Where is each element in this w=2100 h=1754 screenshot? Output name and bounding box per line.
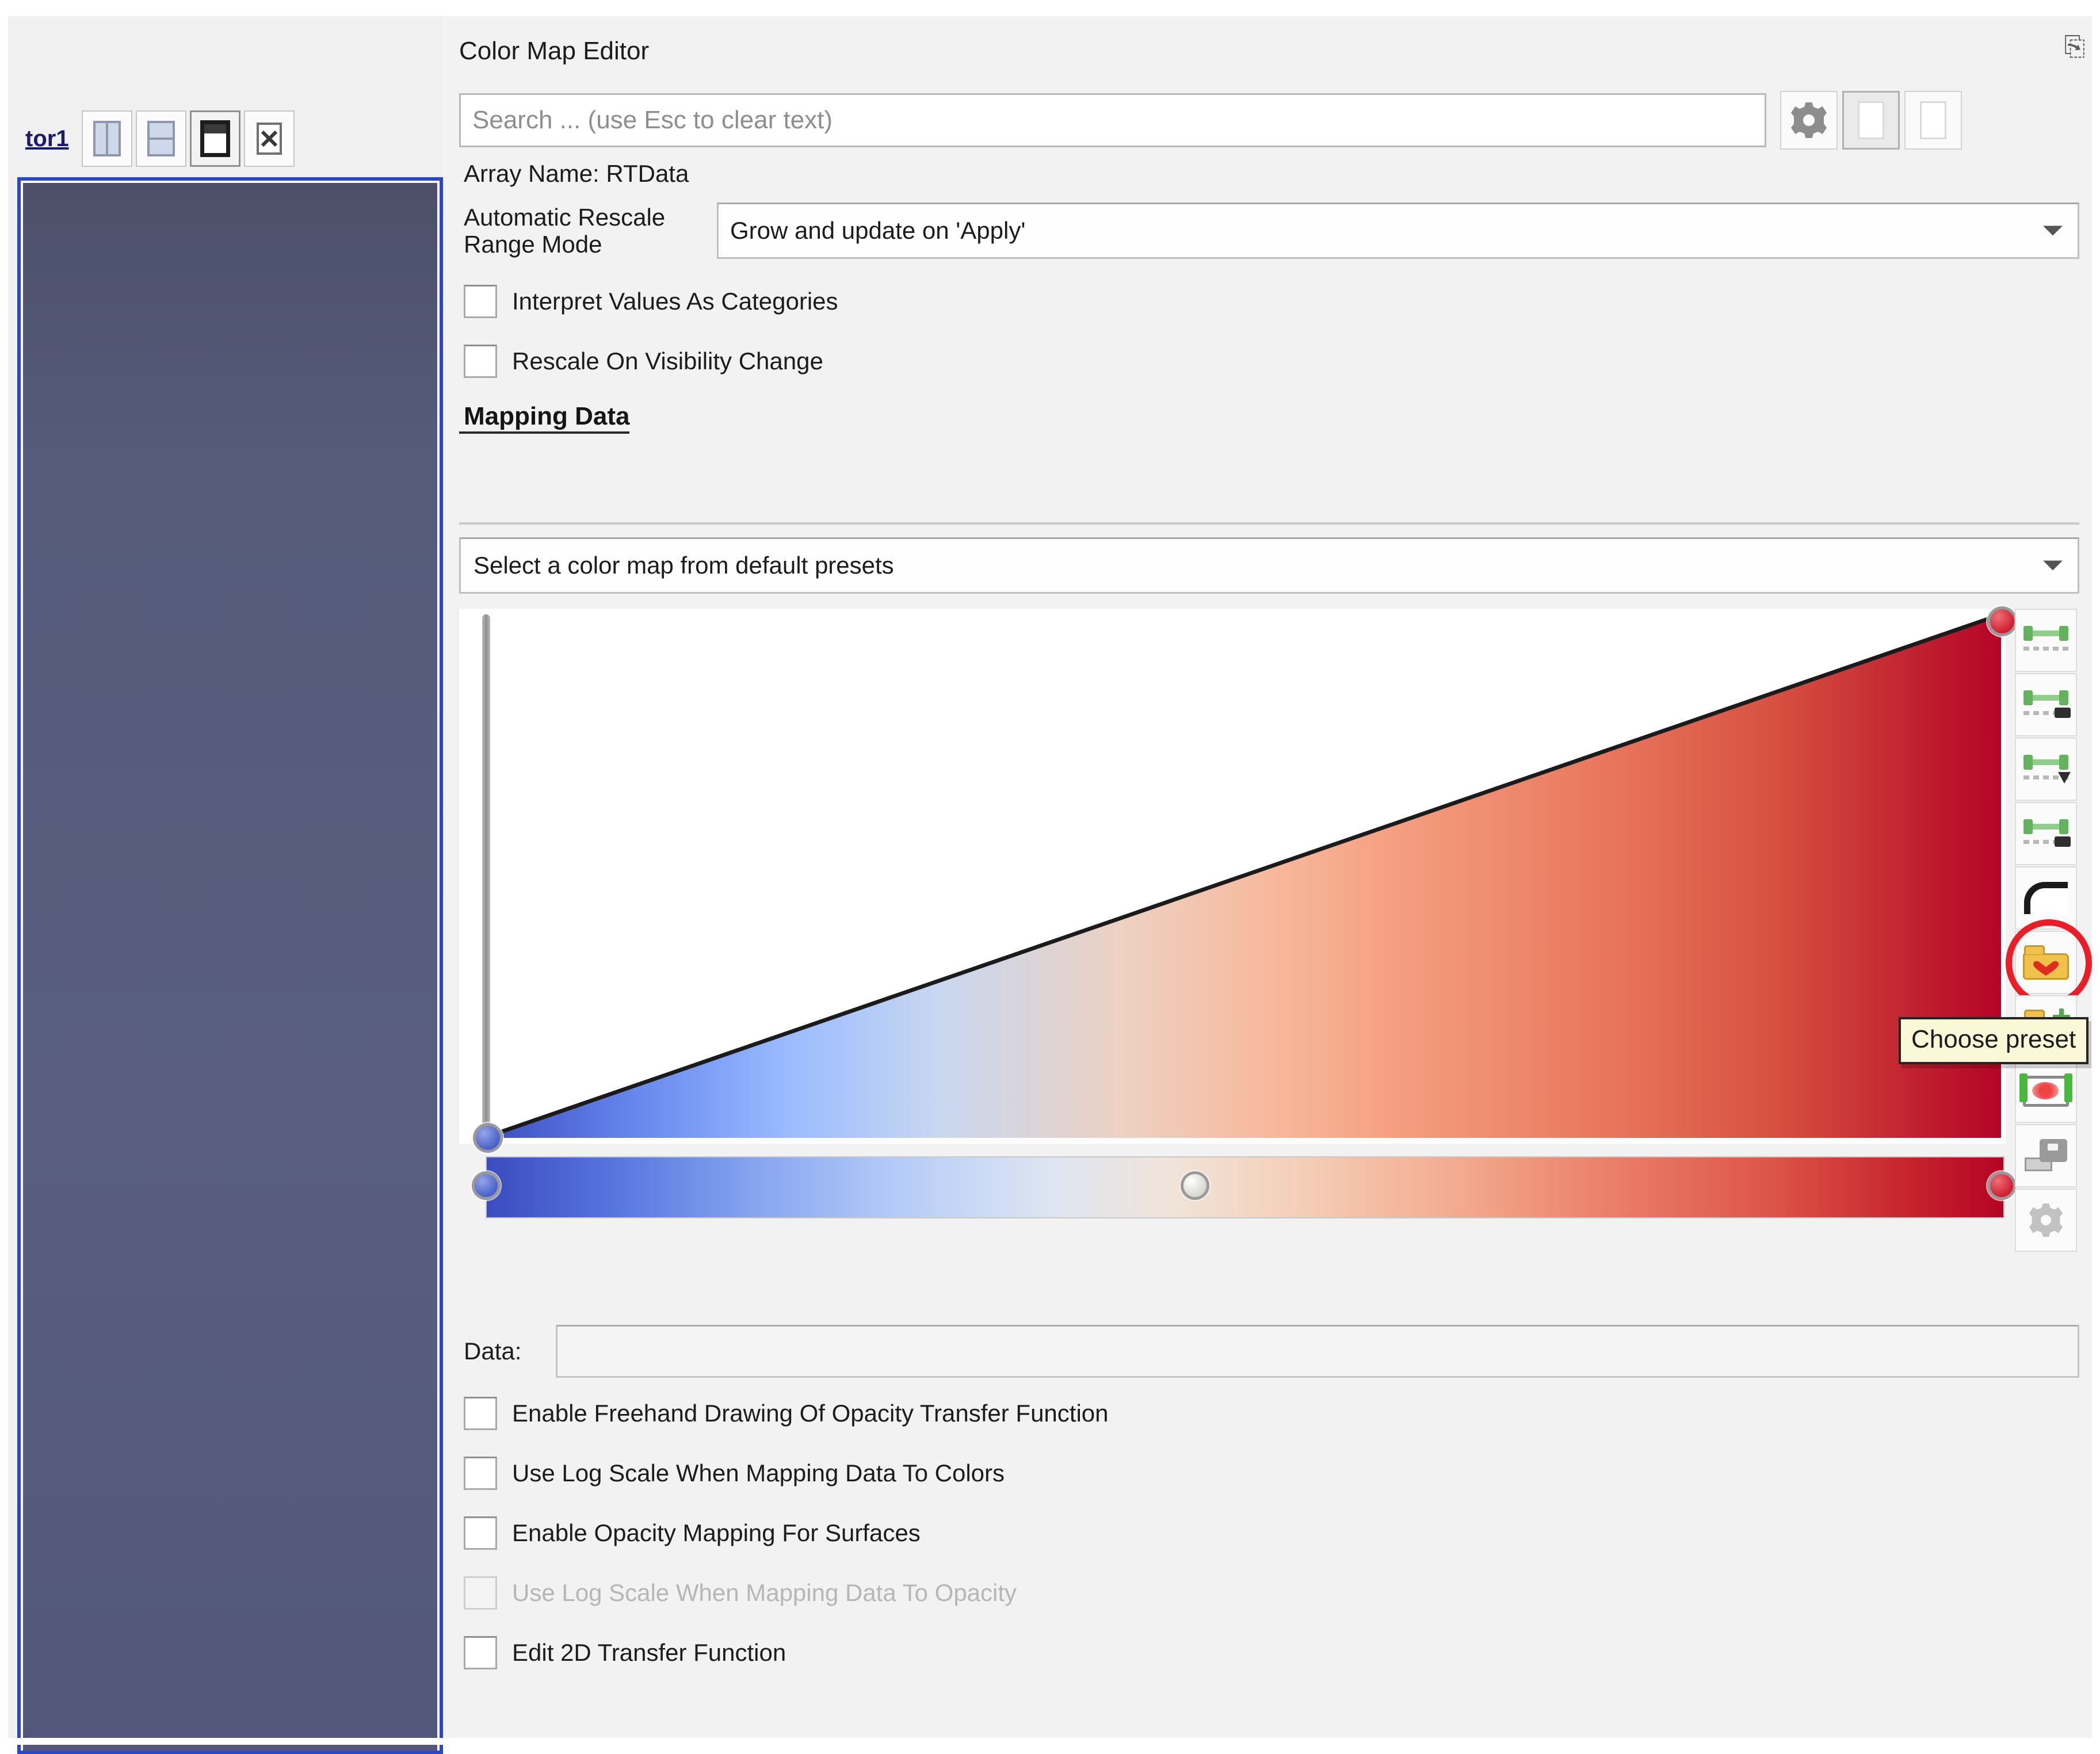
rescale-range-icon <box>2023 624 2068 657</box>
page-margin-bottom <box>0 1738 2100 1745</box>
chevron-down-icon <box>2043 561 2063 571</box>
page-margin-left <box>0 0 8 1745</box>
mapping-data-section-header: Mapping Data <box>459 402 629 434</box>
choose-preset-button[interactable] <box>2015 931 2077 994</box>
gear-icon <box>2029 1203 2063 1237</box>
rescale-to-data-range-over-time-button[interactable] <box>2015 737 2077 801</box>
rescale-mode-label: Automatic Rescale Range Mode <box>459 204 717 258</box>
use-log-scale-colors-checkbox[interactable] <box>464 1457 497 1490</box>
opacity-control-point-low[interactable] <box>473 1123 503 1153</box>
enable-freehand-drawing-label: Enable Freehand Drawing Of Opacity Trans… <box>512 1400 1109 1427</box>
rescale-mode-row: Automatic Rescale Range Mode Grow and up… <box>459 202 2079 259</box>
checkbox-row-rescale-on-visibility-change[interactable]: Rescale On Visibility Change <box>459 331 2079 391</box>
color-control-point-high[interactable] <box>1987 1171 2016 1200</box>
opacity-control-point-high[interactable] <box>1987 606 2017 636</box>
rescale-to-custom-data-range-button[interactable] <box>2015 673 2077 736</box>
edit-2d-transfer-checkbox[interactable] <box>464 1636 497 1669</box>
color-legend-icon <box>1858 101 1884 139</box>
checkbox-row-use-log-scale-colors[interactable]: Use Log Scale When Mapping Data To Color… <box>459 1443 2079 1503</box>
split-vertical-button[interactable] <box>136 110 186 167</box>
color-legend-preset-button[interactable] <box>1842 91 1900 150</box>
edit-2d-transfer-label: Edit 2D Transfer Function <box>512 1639 786 1667</box>
data-input[interactable] <box>556 1325 2079 1378</box>
chevron-down-icon <box>2043 226 2063 236</box>
rainbow-legend-preset-button[interactable] <box>1904 91 1962 150</box>
rescale-mode-value: Grow and update on 'Apply' <box>719 217 1025 244</box>
split-vertical-icon <box>147 121 175 156</box>
page-margin-right <box>2092 0 2100 1745</box>
colormap-color-bar[interactable] <box>486 1156 2004 1218</box>
enable-opacity-mapping-label: Enable Opacity Mapping For Surfaces <box>512 1519 921 1547</box>
maximize-icon <box>200 120 230 157</box>
checkbox-row-interpret-values-as-categories[interactable]: Interpret Values As Categories <box>459 272 2079 331</box>
advanced-properties-button[interactable] <box>1780 91 1838 150</box>
rescale-visible-icon <box>2023 817 2068 850</box>
array-name-label: Array Name: RTData <box>459 160 2079 188</box>
edit-color-legend-parameters-button[interactable] <box>2015 1060 2077 1123</box>
render-view-canvas[interactable] <box>23 183 437 1751</box>
rescale-mode-dropdown[interactable]: Grow and update on 'Apply' <box>717 202 2079 259</box>
color-map-editor-titlebar: Color Map Editor ⎘ <box>446 16 2092 86</box>
data-field-label: Data: <box>459 1338 556 1365</box>
checkbox-row-enable-freehand-drawing[interactable]: Enable Freehand Drawing Of Opacity Trans… <box>459 1384 2079 1443</box>
render-view[interactable] <box>17 177 443 1754</box>
rescale-mode-label-line2: Range Mode <box>464 231 717 258</box>
rescale-over-time-icon <box>2023 752 2068 786</box>
render-view-panel: tor1 <box>8 16 443 1738</box>
rescale-custom-range-icon <box>2023 688 2068 721</box>
invert-transfer-function-button[interactable] <box>2015 866 2077 930</box>
colormap-form: Array Name: RTData Automatic Rescale Ran… <box>459 160 2079 442</box>
undock-icon[interactable]: ⎘ <box>2060 31 2090 61</box>
rescale-to-visible-range-button[interactable] <box>2015 802 2077 865</box>
split-horizontal-button[interactable] <box>82 110 132 167</box>
transfer-function-editor <box>459 609 2079 1305</box>
rainbow-legend-icon <box>1920 101 1946 139</box>
checkbox-row-use-log-scale-opacity: Use Log Scale When Mapping Data To Opaci… <box>459 1563 2079 1623</box>
data-field-row: Data: <box>459 1325 2079 1378</box>
colormap-bottom-form: Data: Enable Freehand Drawing Of Opacity… <box>459 1325 2079 1683</box>
use-log-scale-opacity-label: Use Log Scale When Mapping Data To Opaci… <box>512 1579 1017 1607</box>
choose-preset-tooltip: Choose preset <box>1899 1017 2088 1064</box>
render-view-title: tor1 <box>25 126 69 152</box>
advanced-colormap-settings-button[interactable] <box>2015 1189 2077 1252</box>
transfer-function-toolbar <box>2015 609 2079 1305</box>
color-control-point-mid[interactable] <box>1181 1171 1209 1200</box>
enable-freehand-drawing-checkbox[interactable] <box>464 1397 497 1430</box>
color-control-point-low[interactable] <box>472 1171 501 1200</box>
preset-dropdown[interactable]: Select a color map from default presets <box>459 537 2079 594</box>
use-log-scale-opacity-checkbox <box>464 1576 497 1610</box>
application-window: tor1 Color Map Editor ⎘ <box>0 0 2100 1745</box>
rescale-to-data-range-button[interactable] <box>2015 609 2077 672</box>
opacity-transfer-function-plot[interactable] <box>459 609 2006 1144</box>
rescale-on-visibility-change-checkbox[interactable] <box>464 345 497 378</box>
maximize-view-button[interactable] <box>190 110 240 167</box>
panel-title: Color Map Editor <box>459 37 649 66</box>
gear-icon <box>1791 102 1827 138</box>
checkbox-row-edit-2d-transfer[interactable]: Edit 2D Transfer Function <box>459 1623 2079 1683</box>
rescale-mode-label-line1: Automatic Rescale <box>464 204 717 231</box>
split-horizontal-icon <box>93 121 121 156</box>
search-input[interactable] <box>459 93 1766 147</box>
save-default-icon <box>2025 1139 2067 1172</box>
enable-opacity-mapping-checkbox[interactable] <box>464 1516 497 1550</box>
rescale-on-visibility-change-label: Rescale On Visibility Change <box>512 347 823 375</box>
color-legend-params-icon <box>2023 1076 2069 1107</box>
color-map-editor-panel: Color Map Editor ⎘ Array Name: RTData <box>446 16 2092 1738</box>
opacity-curve <box>459 609 2006 1144</box>
save-as-default-button[interactable] <box>2015 1124 2077 1187</box>
interpret-values-as-categories-checkbox[interactable] <box>464 285 497 318</box>
search-row <box>459 89 2079 152</box>
close-view-button[interactable] <box>244 110 295 167</box>
choose-preset-folder-icon <box>2023 945 2069 980</box>
use-log-scale-colors-label: Use Log Scale When Mapping Data To Color… <box>512 1459 1005 1487</box>
page-margin-top <box>0 0 2100 16</box>
checkbox-row-enable-opacity-mapping[interactable]: Enable Opacity Mapping For Surfaces <box>459 1503 2079 1563</box>
render-view-toolbar: tor1 <box>8 102 443 175</box>
interpret-values-as-categories-label: Interpret Values As Categories <box>512 288 838 315</box>
close-icon <box>257 123 282 155</box>
preset-dropdown-value: Select a color map from default presets <box>461 552 894 579</box>
mapping-data-separator <box>459 522 2079 525</box>
invert-curve-icon <box>2024 882 2068 914</box>
